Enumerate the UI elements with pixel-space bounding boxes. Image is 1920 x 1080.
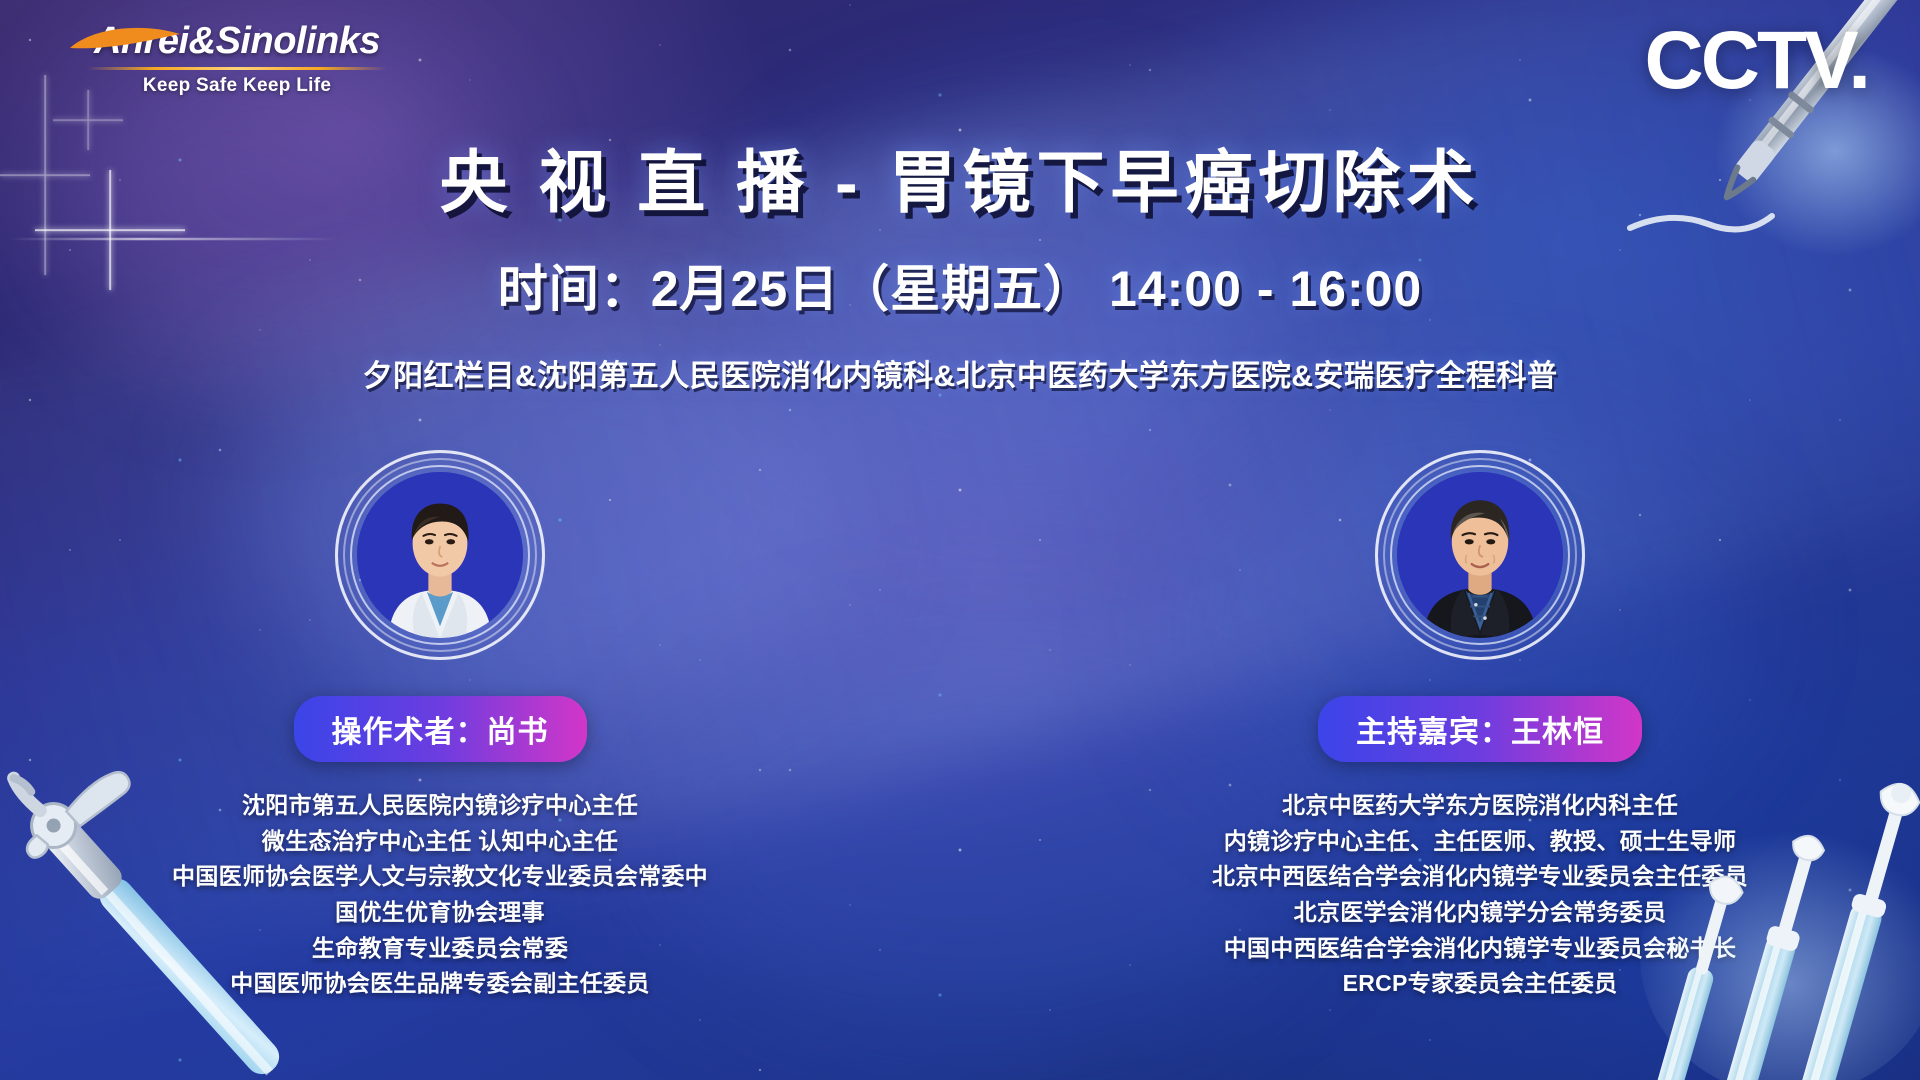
live-broadcast-poster: Anrei&Sinolinks Keep Safe Keep Life CCTV…	[0, 0, 1920, 1080]
credentials-list-operator: 沈阳市第五人民医院内镜诊疗中心主任 微生态治疗中心主任 认知中心主任 中国医师协…	[90, 788, 790, 1002]
brand-wordmark: Anrei&Sinolinks	[72, 22, 402, 60]
doctor-portrait-icon	[357, 472, 523, 638]
page-title: 央 视 直 播 - 胃镜下早癌切除术	[0, 148, 1920, 219]
brand-name-sinolinks: Sinolinks	[216, 20, 380, 62]
organizers-line: 夕阳红栏目&沈阳第五人民医院消化内镜科&北京中医药大学东方医院&安瑞医疗全程科普	[0, 351, 1920, 395]
speaker-card-host: 主持嘉宾：王林恒 北京中医药大学东方医院消化内科主任 内镜诊疗中心主任、主任医师…	[1200, 450, 1760, 1002]
host-portrait-icon	[1397, 472, 1563, 638]
list-item: 生命教育专业委员会常委	[90, 931, 790, 967]
speaker-photo-host	[1397, 472, 1563, 638]
list-item: 中国医师协会医生品牌专委会副主任委员	[90, 966, 790, 1002]
status-badge: 操作术者：尚书	[294, 696, 587, 762]
list-item: 北京中医药大学东方医院消化内科主任	[1130, 788, 1830, 824]
list-item: 北京医学会消化内镜学分会常务委员	[1130, 895, 1830, 931]
list-item: 中国中西医结合学会消化内镜学专业委员会秘书长	[1130, 931, 1830, 967]
status-badge: 主持嘉宾：王林恒	[1318, 696, 1642, 762]
avatar	[335, 450, 545, 660]
speaker-photo-operator	[357, 472, 523, 638]
avatar	[1375, 450, 1585, 660]
event-time: 时间：2月25日（星期五） 14:00 - 16:00	[0, 249, 1920, 321]
speakers-section: 操作术者：尚书 沈阳市第五人民医院内镜诊疗中心主任 微生态治疗中心主任 认知中心…	[0, 450, 1920, 1002]
list-item: 微生态治疗中心主任 认知中心主任	[90, 824, 790, 860]
list-item: 内镜诊疗中心主任、主任医师、教授、硕士生导师	[1130, 824, 1830, 860]
swoosh-icon	[68, 26, 188, 60]
list-item: ERCP专家委员会主任委员	[1130, 966, 1830, 1002]
list-item: 中国医师协会医学人文与宗教文化专业委员会常委中	[90, 859, 790, 895]
list-item: 国优生优育协会理事	[90, 895, 790, 931]
brand-name-amp: &	[189, 20, 216, 62]
list-item: 沈阳市第五人民医院内镜诊疗中心主任	[90, 788, 790, 824]
speaker-card-operator: 操作术者：尚书 沈阳市第五人民医院内镜诊疗中心主任 微生态治疗中心主任 认知中心…	[160, 450, 720, 1002]
credentials-list-host: 北京中医药大学东方医院消化内科主任 内镜诊疗中心主任、主任医师、教授、硕士生导师…	[1130, 788, 1830, 1002]
list-item: 北京中西医结合学会消化内镜学专业委员会主任委员	[1130, 859, 1830, 895]
